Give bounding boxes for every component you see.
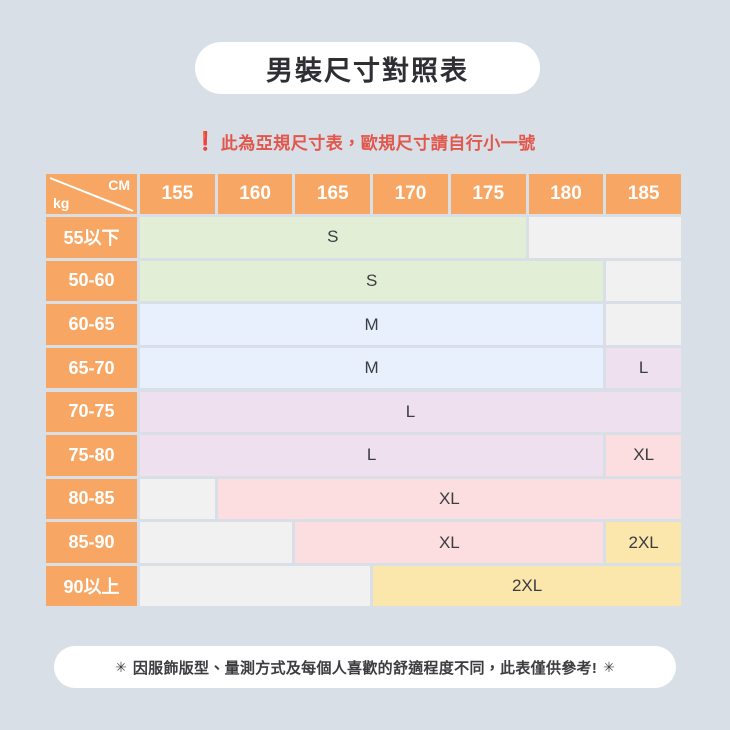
column-header-180: 180: [529, 174, 604, 214]
size-cell-M: M: [140, 304, 603, 344]
table-row: 60-65M: [46, 303, 684, 347]
column-header-165: 165: [295, 174, 370, 214]
row-header-50-60: 50-60: [46, 261, 137, 301]
row-header-70-75: 70-75: [46, 392, 137, 432]
table-row: 50-60S: [46, 259, 684, 303]
table-row: 80-85XL: [46, 477, 684, 521]
table-row: 90以上2XL: [46, 564, 684, 608]
row-header-75-80: 75-80: [46, 435, 137, 475]
warning-banner: ❗ 此為亞規尺寸表，歐規尺寸請自行小一號: [0, 126, 730, 156]
size-cell-empty: [140, 522, 292, 562]
size-cell-empty: [140, 566, 370, 606]
size-cell-empty: [140, 479, 215, 519]
size-cell-L: L: [140, 392, 681, 432]
footer-note-pill: ✳ 因服飾版型、量測方式及每個人喜歡的舒適程度不同，此表僅供參考! ✳: [54, 646, 676, 688]
table-row: 65-70ML: [46, 346, 684, 390]
row-header-90以上: 90以上: [46, 566, 137, 606]
row-header-55以下: 55以下: [46, 217, 137, 257]
axis-corner-cell: CMkg: [46, 174, 137, 214]
table-header-row: CMkg155160165170175180185: [46, 172, 684, 216]
page-title: 男裝尺寸對照表: [266, 49, 469, 88]
size-cell-S: S: [140, 217, 526, 257]
size-cell-XL: XL: [606, 435, 681, 475]
column-header-160: 160: [218, 174, 293, 214]
axis-label-cm: CM: [108, 177, 130, 193]
size-chart-table: CMkg15516016517017518018555以下S50-60S60-6…: [46, 172, 684, 608]
size-cell-2XL: 2XL: [373, 566, 681, 606]
exclamation-circle-icon: ❗: [194, 132, 216, 150]
size-cell-S: S: [140, 261, 603, 301]
star-left-icon: ✳: [115, 659, 127, 676]
table-row: 70-75L: [46, 390, 684, 434]
row-header-60-65: 60-65: [46, 304, 137, 344]
column-header-175: 175: [451, 174, 526, 214]
size-cell-empty: [606, 304, 681, 344]
size-cell-empty: [606, 261, 681, 301]
table-row: 85-90XL2XL: [46, 521, 684, 565]
row-header-80-85: 80-85: [46, 479, 137, 519]
star-right-icon: ✳: [603, 659, 615, 676]
size-cell-empty: [529, 217, 681, 257]
row-header-65-70: 65-70: [46, 348, 137, 388]
column-header-185: 185: [606, 174, 681, 214]
footer-note-text: 因服飾版型、量測方式及每個人喜歡的舒適程度不同，此表僅供參考!: [133, 657, 597, 678]
size-cell-M: M: [140, 348, 603, 388]
size-cell-2XL: 2XL: [606, 522, 681, 562]
column-header-155: 155: [140, 174, 215, 214]
warning-text: 此為亞規尺寸表，歐規尺寸請自行小一號: [221, 129, 536, 154]
size-cell-XL: XL: [218, 479, 681, 519]
table-row: 75-80LXL: [46, 434, 684, 478]
size-cell-L: L: [140, 435, 603, 475]
column-header-170: 170: [373, 174, 448, 214]
size-cell-L: L: [606, 348, 681, 388]
axis-label-kg: kg: [53, 195, 69, 211]
row-header-85-90: 85-90: [46, 522, 137, 562]
table-row: 55以下S: [46, 216, 684, 260]
size-cell-XL: XL: [295, 522, 603, 562]
title-pill: 男裝尺寸對照表: [195, 42, 540, 94]
